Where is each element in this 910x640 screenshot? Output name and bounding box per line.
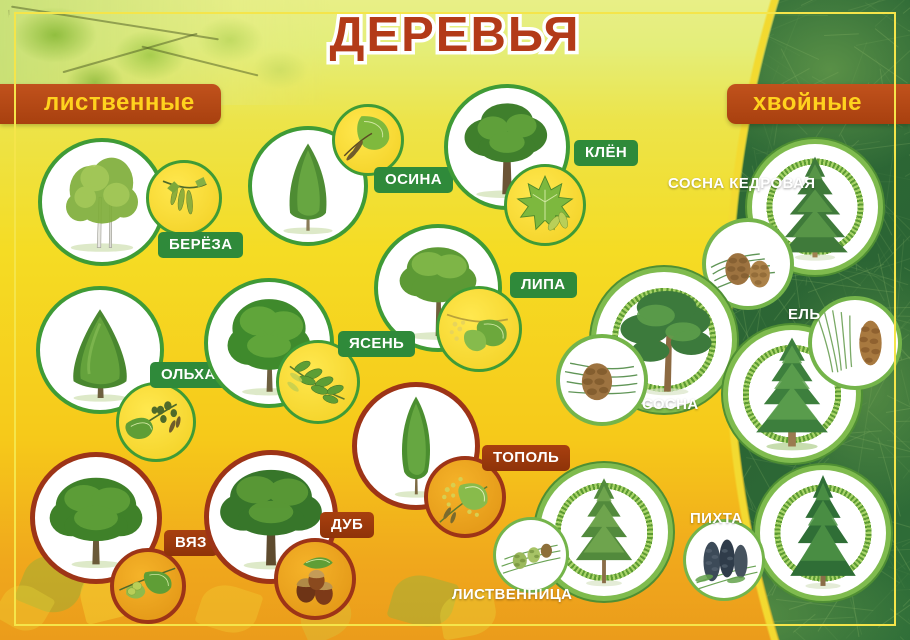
fir-tree-art <box>760 470 886 596</box>
pine-cone-art <box>560 338 644 422</box>
tree-label-bereza: БЕРЁЗА <box>158 232 243 258</box>
tree-label-klen: КЛЁН <box>574 140 638 166</box>
detail-photo-vyaz <box>110 548 186 624</box>
tree-label-pihta: ПИХТА <box>690 510 743 527</box>
birch-catkins-art <box>149 163 219 233</box>
label-text: СОСНА КЕДРОВАЯ <box>668 175 815 192</box>
fir-cones-art <box>686 522 762 598</box>
page-title: ДЕРЕВЬЯ <box>0 7 910 63</box>
elm-leaf-art <box>114 552 182 620</box>
linden-leaves-art <box>439 289 519 369</box>
detail-photo-bereza <box>146 160 222 236</box>
tree-label-el: ЕЛЬ <box>788 306 821 323</box>
alder-branch-art <box>119 385 193 459</box>
tree-label-osina: ОСИНА <box>374 167 453 193</box>
aspen-leaf-art <box>335 107 401 173</box>
tree-label-dub: ДУБ <box>320 512 374 538</box>
tree-label-lipa: ЛИПА <box>510 272 577 298</box>
detail-photo-klen <box>504 164 586 246</box>
detail-photo-dub <box>274 538 356 620</box>
section-badge-deciduous: лиственные <box>0 84 221 124</box>
poplar-leaf-art <box>428 460 502 534</box>
spruce-cone-art <box>812 300 898 386</box>
detail-photo-el <box>812 300 898 386</box>
section-badge-coniferous: хвойные <box>727 84 910 124</box>
tree-label-listvennica: ЛИСТВЕННИЦА <box>452 586 572 603</box>
maple-leaf-art <box>507 167 583 243</box>
tree-label-yasen: ЯСЕНЬ <box>338 331 415 357</box>
detail-photo-listvennica <box>496 520 566 590</box>
birch-tree-art <box>42 142 162 262</box>
larch-cones-art <box>496 520 566 590</box>
acorns-art <box>278 542 352 616</box>
detail-photo-olha <box>116 382 196 462</box>
detail-photo-osina <box>332 104 404 176</box>
detail-photo-pihta <box>686 522 762 598</box>
tree-photo-pihta <box>760 470 886 596</box>
tree-label-sosna: СОСНА <box>642 396 699 413</box>
detail-photo-sosna <box>560 338 644 422</box>
tree-label-sosna-kedrovaya: СОСНА КЕДРОВАЯ <box>668 176 778 193</box>
tree-poster: ДЕРЕВЬЯ ДЕРЕВЬЯ лиственные хвойные <box>0 0 910 640</box>
detail-photo-lipa <box>436 286 522 372</box>
